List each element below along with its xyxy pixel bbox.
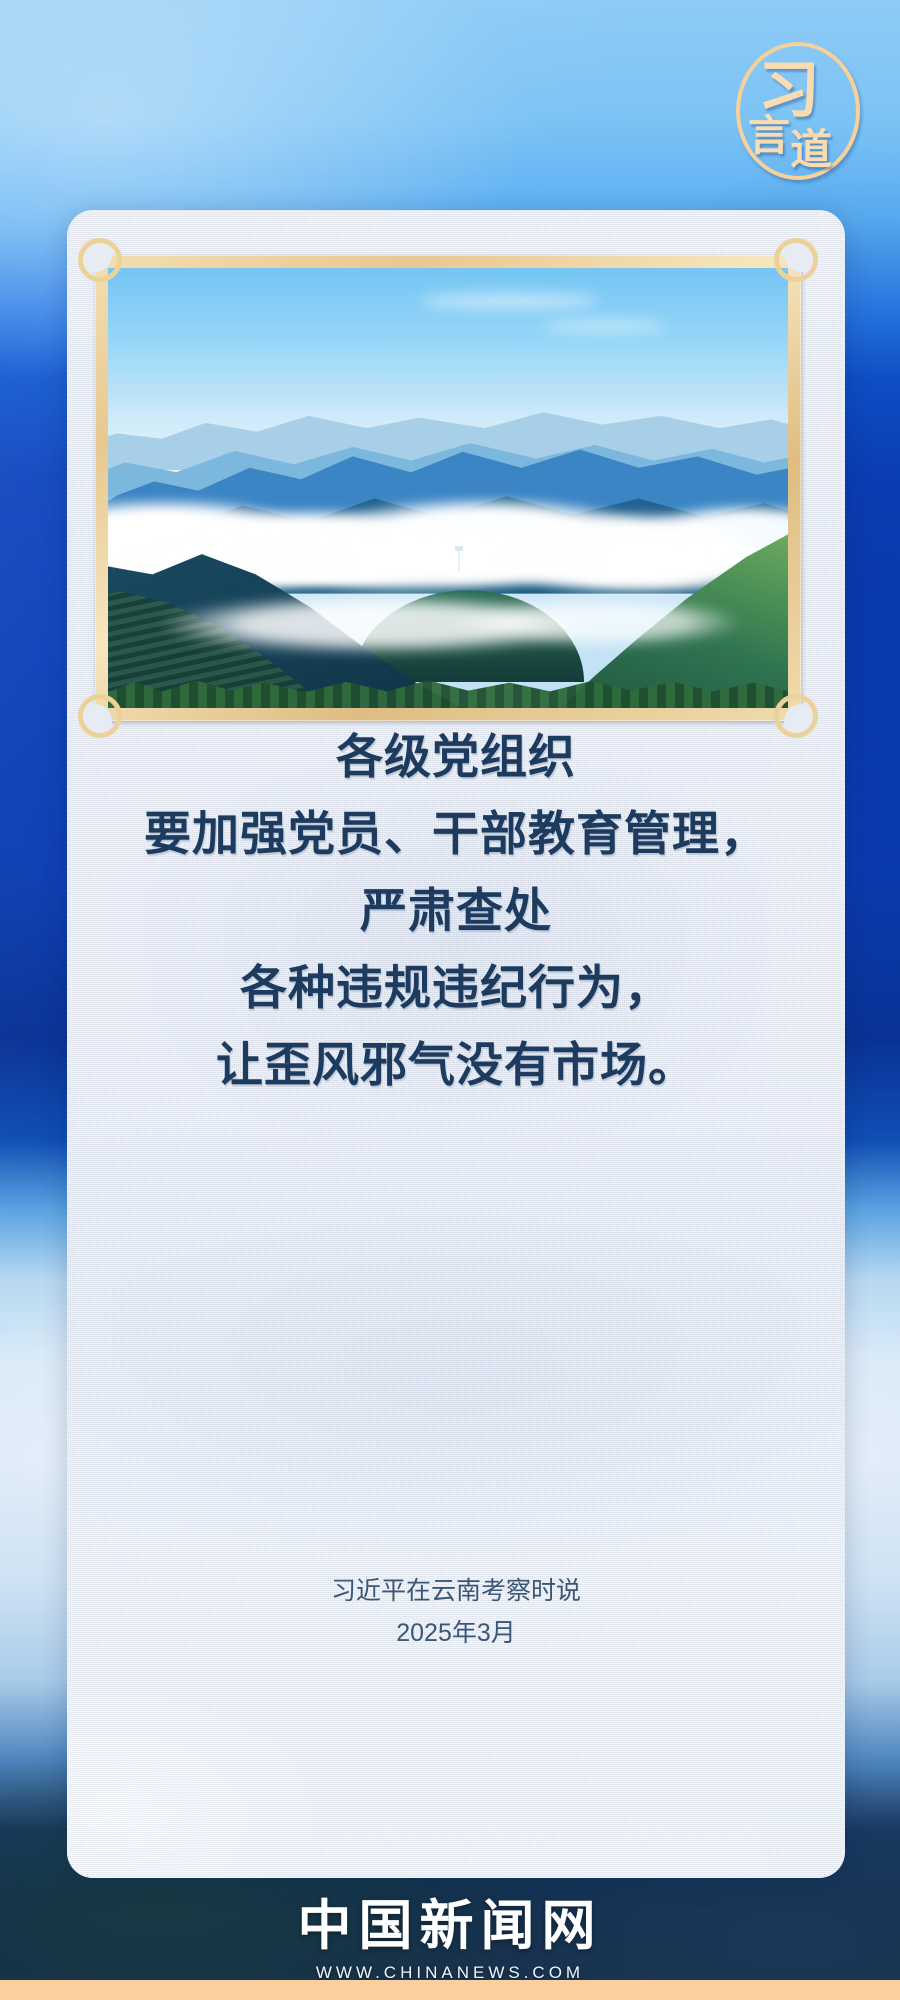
attribution-block: 习近平在云南考察时说 2025年3月 <box>67 1570 845 1654</box>
quote-line-3: 严肃查处 <box>67 874 845 951</box>
xi-yan-dao-seal-logo[interactable]: 习 言 道 <box>728 38 868 186</box>
seal-char-dao: 道 <box>790 130 832 172</box>
seal-char-xi: 习 <box>758 60 820 122</box>
frame-corner-ring-tr <box>774 238 818 282</box>
poster-root: 习 言 道 <box>0 0 900 2000</box>
seal-char-yan: 言 <box>748 116 790 158</box>
photo-frame <box>95 255 801 721</box>
site-name-cn: 中国新闻网 <box>0 1895 900 1957</box>
content-card: 各级党组织 要加强党员、干部教育管理， 严肃查处 各种违规违纪行为， 让歪风邪气… <box>67 210 845 1878</box>
quote-line-4: 各种违规违纪行为， <box>67 951 845 1028</box>
landscape-photo <box>108 268 788 708</box>
frame-corner-ring-tl <box>78 238 122 282</box>
attribution-source: 习近平在云南考察时说 <box>67 1570 845 1612</box>
quote-line-5: 让歪风邪气没有市场。 <box>67 1028 845 1105</box>
quote-line-1: 各级党组织 <box>67 720 845 797</box>
site-brand[interactable]: 中国新闻网 WWW.CHINANEWS.COM <box>0 1895 900 1983</box>
bottom-accent-strip <box>0 1980 900 2000</box>
quote-block: 各级党组织 要加强党员、干部教育管理， 严肃查处 各种违规违纪行为， 让歪风邪气… <box>67 720 845 1105</box>
photo-highlight <box>108 268 788 708</box>
attribution-date: 2025年3月 <box>67 1612 845 1654</box>
quote-line-2: 要加强党员、干部教育管理， <box>67 797 845 874</box>
